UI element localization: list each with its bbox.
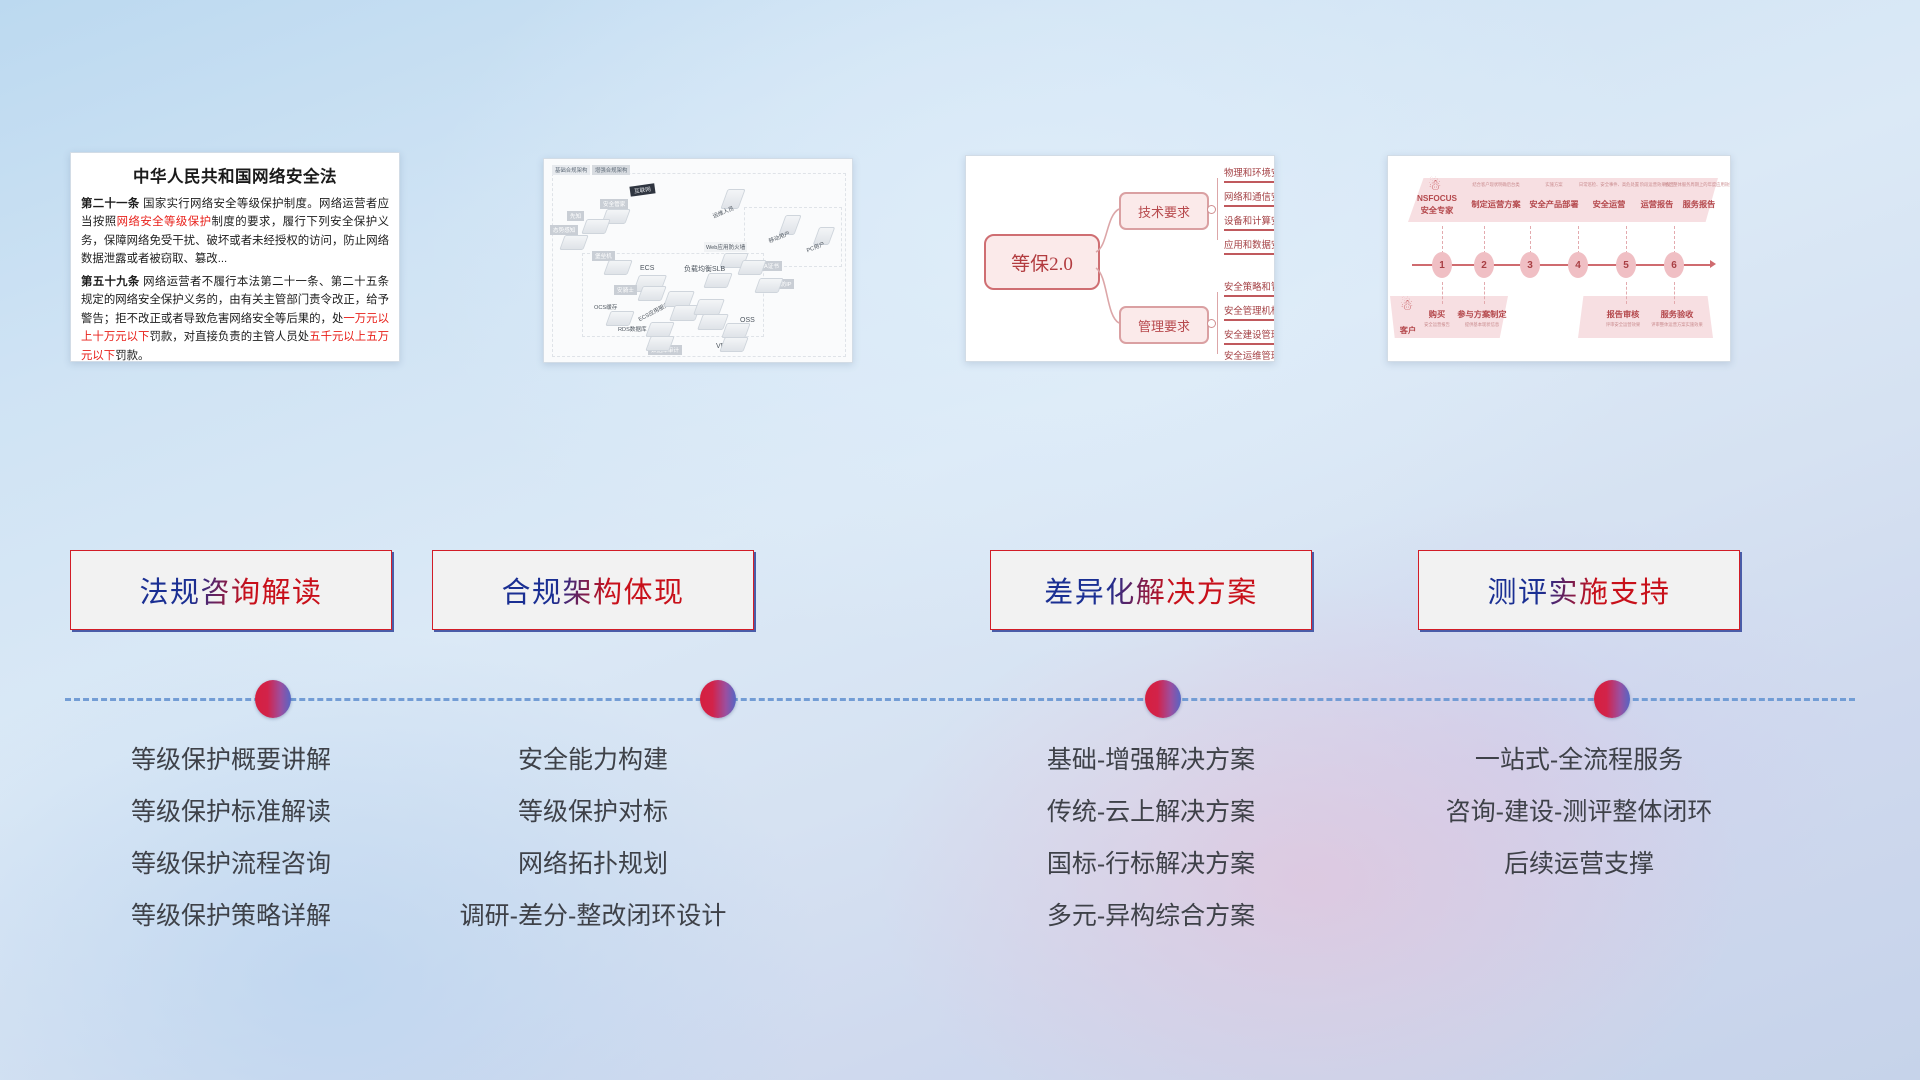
- architecture-canvas: 基础合规架构 增强合规架构 互联网 安全管家 先知 态势感知 堡垒机 运维人员 …: [544, 159, 852, 362]
- mindmap-branch-management: 管理要求: [1119, 306, 1209, 344]
- nsfocus-tick-3: [1530, 226, 1531, 254]
- list-item: 等级保护概要讲解: [70, 748, 392, 773]
- article-21-highlight: 网络安全等级保护: [117, 216, 212, 228]
- mindmap-leaf-mgmt-0: 安全策略和管理制度: [1224, 279, 1275, 297]
- nsfocus-step-marker-2[interactable]: 2: [1474, 252, 1494, 278]
- nsfocus-expert-name: NSFOCUS: [1414, 194, 1460, 203]
- mindmap-collapse-dot-management[interactable]: [1207, 319, 1216, 328]
- mindmap-spine-management: [1217, 292, 1218, 354]
- mindmap-leaf-tech-1: 网络和通信安全: [1224, 189, 1275, 207]
- nsfocus-top-caption-4: 给出整体服务周期上的年度应用效果: [1664, 182, 1731, 188]
- law-title: 中华人民共和国网络安全法: [81, 163, 389, 187]
- nsfocus-tick-down-1: [1442, 282, 1443, 304]
- article-59-text-3: 罚款。: [115, 350, 149, 362]
- title-button-label-0: 法规咨询解读: [139, 569, 322, 611]
- law-article-59: 第五十九条 网络运营者不履行本法第二十一条、第二十五条规定的网络安全保护义务的，…: [81, 273, 389, 362]
- law-article-21: 第二十一条 国家实行网络安全等级保护制度。网络运营者应当按照网络安全等级保护制度…: [81, 195, 389, 269]
- nsfocus-top-caption-0: 结合客户现状明确后台类: [1464, 182, 1528, 188]
- list-item: 后续运营支撑: [1418, 852, 1740, 877]
- nsfocus-tick-2: [1484, 226, 1485, 254]
- nsfocus-bottom-caption-0: 安全运营报告: [1418, 322, 1456, 328]
- mindmap-leaf-mgmt-1: 安全管理机构和人员: [1224, 303, 1275, 321]
- mindmap-leaf-tech-3: 应用和数据安全: [1224, 237, 1275, 255]
- timeline-dashed-line: [65, 698, 1855, 701]
- title-button-compliance-architecture[interactable]: 合规架构体现: [432, 550, 754, 630]
- arch-label-security-butler: 安全管家: [600, 199, 628, 209]
- list-item: 网络拓扑规划: [432, 852, 754, 877]
- article-59-text-2: 罚款，对直接负责的主管人员处: [149, 331, 309, 343]
- expert-avatar-icon: ☃: [1428, 176, 1441, 194]
- mindmap-branch-technical: 技术要求: [1119, 192, 1209, 230]
- list-item: 等级保护策略详解: [70, 904, 392, 929]
- nsfocus-top-title-0: 制定运营方案: [1464, 198, 1528, 210]
- timeline-dot-3[interactable]: [1594, 680, 1630, 718]
- nsfocus-bottom-caption-1: 提供基本现状信息: [1454, 322, 1510, 328]
- title-button-evaluation-support[interactable]: 测评实施支持: [1418, 550, 1740, 630]
- nsfocus-tick-4: [1578, 226, 1579, 254]
- title-button-regulation-consulting[interactable]: 法规咨询解读: [70, 550, 392, 630]
- nsfocus-step-marker-5[interactable]: 5: [1616, 252, 1636, 278]
- nsfocus-bottom-caption-3: 评审整体运营方案实施效果: [1644, 322, 1710, 328]
- arch-label-situation-awareness: 态势感知: [550, 225, 578, 235]
- list-item: 调研-差分-整改闭环设计: [432, 904, 754, 929]
- mindmap-leaf-tech-2: 设备和计算安全: [1224, 213, 1275, 231]
- list-item: 安全能力构建: [432, 748, 754, 773]
- nsfocus-top-title-1: 安全产品部署: [1522, 198, 1586, 210]
- nsfocus-expert-role: 安全专家: [1414, 204, 1460, 216]
- nsfocus-step-marker-4[interactable]: 4: [1568, 252, 1588, 278]
- nsfocus-bottom-title-3: 服务验收: [1654, 308, 1700, 320]
- customer-avatar-icon: ☃: [1400, 296, 1413, 314]
- feature-list-evaluation-support: 一站式-全流程服务 咨询-建设-测评整体闭环 后续运营支撑: [1418, 748, 1740, 904]
- mindmap-leaf-tech-0: 物理和环境安全: [1224, 165, 1275, 183]
- list-item: 一站式-全流程服务: [1418, 748, 1740, 773]
- arch-label-ecs: ECS: [640, 265, 654, 272]
- nsfocus-tick-down-6: [1674, 282, 1675, 304]
- nsfocus-bottom-title-2: 报告审核: [1600, 308, 1646, 320]
- arch-label-waf: Web应用防火墙: [704, 242, 747, 252]
- title-button-label-3: 测评实施支持: [1487, 569, 1670, 611]
- nsfocus-tick-1: [1442, 226, 1443, 254]
- arch-label-ocs: OCS缓存: [594, 303, 617, 311]
- nsfocus-tick-down-2: [1484, 282, 1485, 304]
- title-button-label-1: 合规架构体现: [501, 569, 684, 611]
- arch-label-xianzhi: 先知: [567, 211, 584, 221]
- timeline-dot-0[interactable]: [255, 680, 291, 718]
- list-item: 等级保护对标: [432, 800, 754, 825]
- nsfocus-tick-down-5: [1626, 282, 1627, 304]
- title-button-label-2: 差异化解决方案: [1044, 569, 1258, 611]
- mindmap-leaf-mgmt-3: 安全运维管理: [1224, 348, 1275, 362]
- arch-tab-enhanced[interactable]: 增强合规架构: [592, 165, 630, 175]
- list-item: 咨询-建设-测评整体闭环: [1418, 800, 1740, 825]
- list-item: 等级保护流程咨询: [70, 852, 392, 877]
- card-nsfocus-service-flow: ☃ NSFOCUS 安全专家 结合客户现状明确后台类 制定运营方案 实施方案 安…: [1387, 155, 1731, 362]
- article-21-label: 第二十一条: [81, 198, 140, 210]
- list-item: 传统-云上解决方案: [990, 800, 1312, 825]
- card-compliance-architecture: 基础合规架构 增强合规架构 互联网 安全管家 先知 态势感知 堡垒机 运维人员 …: [543, 158, 853, 363]
- nsfocus-top-title-4: 服务报告: [1670, 198, 1728, 210]
- mindmap-collapse-dot-technical[interactable]: [1207, 205, 1216, 214]
- card-mindmap-dengbao: 等保2.0 技术要求 物理和环境安全 网络和通信安全 设备和计算安全 应用和数据…: [965, 155, 1275, 362]
- feature-list-differentiated-solution: 基础-增强解决方案 传统-云上解决方案 国标-行标解决方案 多元-异构综合方案: [990, 748, 1312, 956]
- arch-label-anqishi: 安骑士: [614, 285, 637, 295]
- arch-label-rds: RDS数据库: [618, 325, 647, 333]
- nsfocus-step-marker-6[interactable]: 6: [1664, 252, 1684, 278]
- list-item: 基础-增强解决方案: [990, 748, 1312, 773]
- nsfocus-tick-6: [1674, 226, 1675, 254]
- title-button-differentiated-solution[interactable]: 差异化解决方案: [990, 550, 1312, 630]
- slide-canvas: 中华人民共和国网络安全法 第二十一条 国家实行网络安全等级保护制度。网络运营者应…: [0, 0, 1920, 1080]
- mindmap-spine-technical: [1217, 178, 1218, 240]
- nsfocus-bottom-title-0: 购买: [1422, 308, 1452, 320]
- nsfocus-step-marker-1[interactable]: 1: [1432, 252, 1452, 278]
- nsfocus-axis-arrow-icon: [1710, 260, 1716, 268]
- nsfocus-step-marker-3[interactable]: 3: [1520, 252, 1540, 278]
- nsfocus-bottom-title-1: 参与方案制定: [1456, 308, 1508, 320]
- arch-tab-basic[interactable]: 基础合规架构: [552, 165, 590, 175]
- card-cybersecurity-law: 中华人民共和国网络安全法 第二十一条 国家实行网络安全等级保护制度。网络运营者应…: [70, 152, 400, 362]
- timeline-dot-2[interactable]: [1145, 680, 1181, 718]
- nsfocus-tick-5: [1626, 226, 1627, 254]
- timeline-dot-1[interactable]: [700, 680, 736, 718]
- list-item: 等级保护标准解读: [70, 800, 392, 825]
- article-59-label: 第五十九条: [81, 276, 140, 288]
- feature-list-regulation-consulting: 等级保护概要讲解 等级保护标准解读 等级保护流程咨询 等级保护策略详解: [70, 748, 392, 956]
- list-item: 国标-行标解决方案: [990, 852, 1312, 877]
- list-item: 多元-异构综合方案: [990, 904, 1312, 929]
- mindmap-leaf-mgmt-2: 安全建设管理: [1224, 327, 1275, 345]
- feature-list-compliance-architecture: 安全能力构建 等级保护对标 网络拓扑规划 调研-差分-整改闭环设计: [432, 748, 754, 956]
